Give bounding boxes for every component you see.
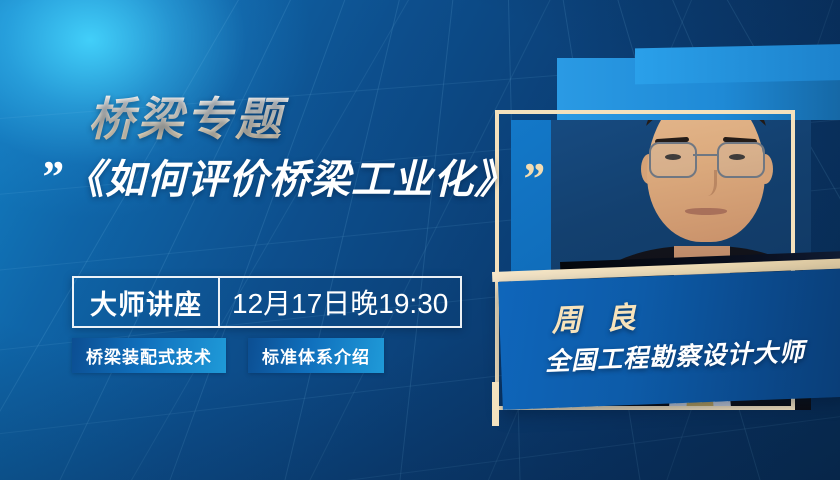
lecture-datetime: 12月17日晚19:30 [220,278,460,326]
promo-poster: 桥梁专题 ” 《如何评价桥梁工业化》 ” 大师讲座 12月17日晚19:30 桥… [0,0,840,480]
topic-tag: 标准体系介绍 [248,338,384,373]
speaker-nameplate: 周 良 全国工程勘察设计大师 [498,269,840,410]
subtitle-row: ” 《如何评价桥梁工业化》 ” [40,150,530,204]
page-title: 桥梁专题 [88,92,530,146]
nameplate-left-strip [492,382,499,426]
topic-tag-row: 桥梁装配式技术 标准体系介绍 [72,338,384,373]
quote-open-mark: ” [40,154,60,200]
nameplate-text-group: 周 良 全国工程勘察设计大师 [543,285,836,378]
lecture-type-label: 大师讲座 [74,278,218,326]
accent-slab-front [635,44,840,85]
topic-tag: 桥梁装配式技术 [72,338,226,373]
quote-close-mark: ” [521,156,541,202]
lecture-info-bar: 大师讲座 12月17日晚19:30 [72,276,462,328]
title-block: 桥梁专题 ” 《如何评价桥梁工业化》 ” [0,92,530,204]
page-subtitle: 《如何评价桥梁工业化》 [64,156,515,204]
